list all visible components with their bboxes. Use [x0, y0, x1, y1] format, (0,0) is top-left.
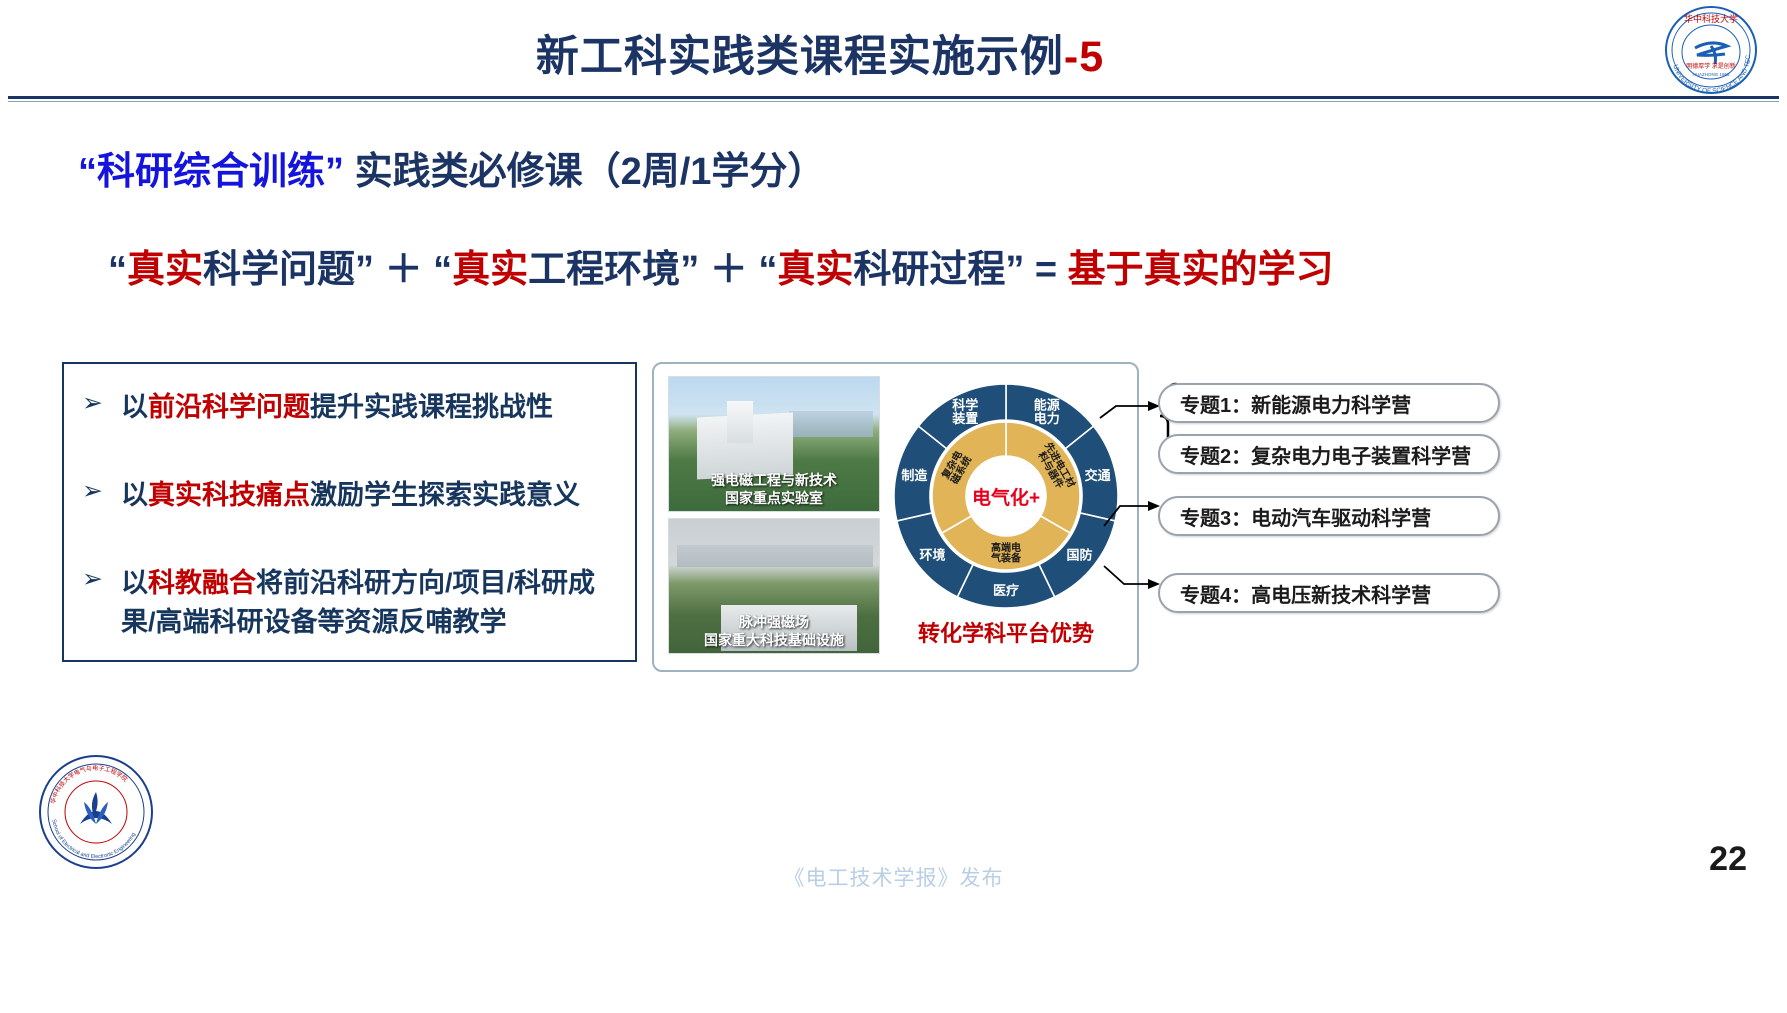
key-points-box: ➢ 以前沿科学问题提升实践课程挑战性 ➢ 以真实科技痛点激励学生探索实践意义 ➢… [62, 362, 637, 662]
photo-1-tower [727, 401, 753, 443]
lab-photo-1: 强电磁工程与新技术 国家重点实验室 [668, 376, 880, 512]
bullet-1-post: 提升实践课程挑战性 [310, 392, 553, 422]
lab-photo-2-caption-line2: 国家重大科技基础设施 [669, 632, 879, 650]
page-title: 新工科实践类课程实施示例-5 [0, 22, 1640, 84]
lab-photo-2: 脉冲强磁场 国家重大科技基础设施 [668, 518, 880, 654]
bullet-3-highlight: 科教融合 [148, 568, 256, 598]
diagram-caption: 转化学科平台优势 [890, 616, 1122, 648]
donut-slice-label: 高端电气装备 [990, 541, 1022, 565]
topic-pill-1-label: 专题1：新能源电力科学营 [1180, 389, 1411, 418]
bullet-item-1: ➢ 以前沿科学问题提升实践课程挑战性 [82, 388, 553, 427]
lab-photo-1-caption: 强电磁工程与新技术 国家重点实验室 [669, 472, 879, 507]
bullet-arrow-icon: ➢ [82, 564, 103, 594]
equation-term-1-navy: 科学问题 [203, 249, 355, 291]
donut-slice-label: 科学装置 [951, 397, 978, 426]
equation-term-2-navy: 工程环境 [528, 249, 680, 291]
bullet-arrow-icon: ➢ [82, 476, 103, 506]
svg-text:明德厚学 求是创新: 明德厚学 求是创新 [1686, 62, 1736, 70]
header-divider [8, 96, 1779, 99]
equation-term-1: “真实科学问题” [108, 249, 374, 291]
hust-university-logo: 华中科技大学 明德厚学 求是创新 HUAZHONG 1953 UNIVERSIT… [1648, 6, 1774, 94]
bullet-item-3-text: 以科教融合将前沿科研方向/项目/科研成果/高端科研设备等资源反哺教学 [121, 564, 621, 642]
equation-result: 基于真实的学习 [1068, 249, 1334, 291]
equation-plus-1: ＋ [374, 249, 433, 291]
subtitle-line-2: “真实科学问题” ＋ “真实工程环境” ＋ “真实科研过程” = 基于真实的学习 [108, 238, 1334, 293]
lab-photo-2-caption-line1: 脉冲强磁场 [669, 614, 879, 632]
lab-photo-1-caption-line2: 国家重点实验室 [669, 490, 879, 508]
bullet-2-highlight: 真实科技痛点 [148, 480, 310, 510]
subtitle-line-1: “科研综合训练” 实践类必修课（2周/1学分） [78, 140, 825, 195]
topic-pill-2[interactable]: 专题2：复杂电力电子装置科学营 [1158, 434, 1500, 474]
lab-photo-2-caption: 脉冲强磁场 国家重大科技基础设施 [669, 614, 879, 649]
donut-slice-label: 能源电力 [1034, 397, 1060, 426]
lab-photo-1-caption-line1: 强电磁工程与新技术 [669, 472, 879, 490]
watermark-text: 《电工技术学报》发布 [0, 862, 1787, 892]
bullet-2-post: 激励学生探索实践意义 [310, 480, 580, 510]
bullet-3-pre: 以 [121, 568, 148, 598]
donut-slice-label: 环境 [920, 548, 946, 563]
bullet-arrow-icon: ➢ [82, 388, 103, 418]
subtitle-line-1-quote: “科研综合训练” [78, 151, 344, 193]
header-divider-thin [8, 101, 1779, 102]
bullet-2-pre: 以 [121, 480, 148, 510]
equation-plus-2: ＋ [699, 249, 758, 291]
bullet-1-highlight: 前沿科学问题 [148, 392, 310, 422]
topic-pill-3[interactable]: 专题3：电动汽车驱动科学营 [1158, 496, 1500, 536]
slide-root: 新工科实践类课程实施示例-5 华中科技大学 明德厚学 求是创新 HUAZHONG… [0, 0, 1787, 1013]
school-of-electrical-and-electronic-engineering-logo: 华中科技大学电气与电子工程学院 School of Electrical and… [36, 752, 156, 872]
topic-pill-4[interactable]: 专题4：高电压新技术科学营 [1158, 573, 1500, 613]
donut-slice-label: 国防 [1066, 548, 1092, 563]
photo-1-skyline [789, 411, 873, 437]
bullet-item-3: ➢ 以科教融合将前沿科研方向/项目/科研成果/高端科研设备等资源反哺教学 [82, 564, 621, 642]
platform-panel: 强电磁工程与新技术 国家重点实验室 脉冲强磁场 国家重大科技基础设施 能源电力交… [652, 362, 1139, 672]
svg-text:华中科技大学: 华中科技大学 [1684, 13, 1738, 24]
equation-term-2: “真实工程环境” [433, 249, 699, 291]
topic-pill-2-label: 专题2：复杂电力电子装置科学营 [1180, 440, 1471, 469]
topic-pill-1[interactable]: 专题1：新能源电力科学营 [1158, 383, 1500, 423]
equation-term-3: “真实科研过程” [758, 249, 1024, 291]
photo-2-skyline [677, 545, 873, 567]
equation-term-2-red: 真实 [452, 249, 528, 291]
equation-term-3-navy: 科研过程 [853, 249, 1005, 291]
topic-pill-4-label: 专题4：高电压新技术科学营 [1180, 579, 1431, 608]
subtitle-line-1-rest: 实践类必修课（2周/1学分） [344, 151, 825, 193]
topic-pill-3-label: 专题3：电动汽车驱动科学营 [1180, 502, 1431, 531]
bullet-item-2-text: 以真实科技痛点激励学生探索实践意义 [121, 476, 580, 515]
donut-slice-label: 医疗 [993, 583, 1019, 598]
donut-center-label: 电气化+ [972, 486, 1040, 509]
bullet-item-2: ➢ 以真实科技痛点激励学生探索实践意义 [82, 476, 580, 515]
svg-text:华中科技大学电气与电子工程学院: 华中科技大学电气与电子工程学院 [49, 764, 129, 805]
equation-equals: = [1024, 249, 1067, 291]
bullet-1-pre: 以 [121, 392, 148, 422]
donut-slice-label: 制造 [901, 468, 928, 483]
discipline-donut-chart: 能源电力交通国防医疗环境制造科学装置 先进电工材料与器件高端电气装备复杂电磁系统… [890, 380, 1122, 612]
equation-term-3-red: 真实 [777, 249, 853, 291]
page-number: 22 [1709, 840, 1747, 879]
equation-term-1-red: 真实 [127, 249, 203, 291]
page-title-number: -5 [1064, 33, 1104, 81]
bullet-item-1-text: 以前沿科学问题提升实践课程挑战性 [121, 388, 553, 427]
svg-text:HUAZHONG 1953: HUAZHONG 1953 [1692, 72, 1730, 77]
page-title-text: 新工科实践类课程实施示例 [536, 33, 1064, 81]
